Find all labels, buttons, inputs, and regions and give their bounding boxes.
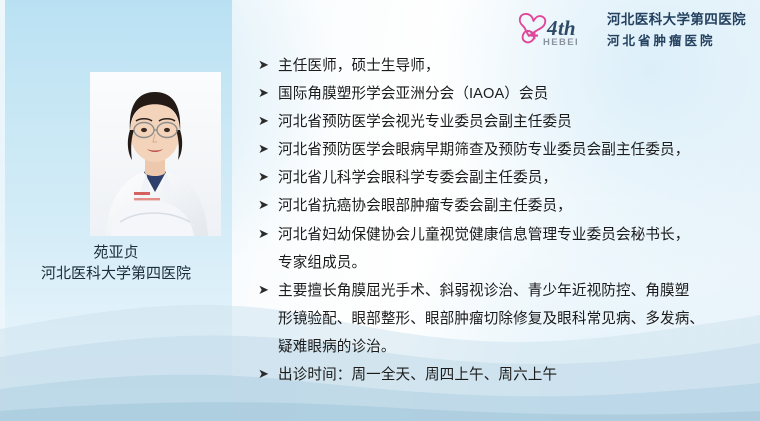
hospital-name-block: 河北医科大学第四医院 河北省肿瘤医院 — [607, 8, 746, 49]
list-item-text: 河北省抗癌协会眼部肿瘤专委会副主任委员， — [278, 194, 748, 219]
list-item-text: 主要擅长角膜屈光手术、斜弱视诊治、青少年近视防控、角膜塑 — [278, 279, 748, 304]
list-item-text: 形镜验配、眼部整形、眼部肿瘤切除修复及眼科常见病、多发病、 — [278, 307, 748, 332]
list-item-text: 出诊时间：周一全天、周四上午、周六上午 — [278, 363, 748, 388]
arrow-bullet-icon: ➤ — [258, 279, 278, 304]
list-item: ➤ 河北省儿科学会眼科学专委会副主任委员， — [258, 166, 748, 191]
list-item: ➤ 出诊时间：周一全天、周四上午、周六上午 — [258, 363, 748, 388]
arrow-bullet-icon: ➤ — [258, 166, 278, 191]
arrow-bullet-icon: ➤ — [258, 194, 278, 219]
arrow-bullet-icon: ➤ — [258, 82, 278, 107]
list-item-text: 国际角膜塑形学会亚洲分会（IAOA）会员 — [278, 82, 748, 107]
hospital-name-primary: 河北医科大学第四医院 — [607, 8, 746, 28]
hospital-brand: 4 th HEBEI 河北医科大学第四医院 河北省肿瘤医院 — [513, 8, 746, 49]
arrow-bullet-icon: ➤ — [258, 223, 278, 248]
list-item-text: 河北省预防医学会视光专业委员会副主任委员 — [278, 110, 748, 135]
list-item-continuation: 专家组成员。 — [258, 251, 748, 276]
list-item: ➤ 主要擅长角膜屈光手术、斜弱视诊治、青少年近视防控、角膜塑 — [258, 279, 748, 304]
list-item-text: 疑难眼病的诊治。 — [278, 335, 748, 360]
hospital-logo-icon: 4 th HEBEI — [513, 10, 599, 48]
list-item-text: 河北省预防医学会眼病早期筛查及预防专业委员会副主任委员， — [278, 138, 748, 163]
list-item: ➤ 主任医师，硕士生导师， — [258, 54, 748, 79]
list-item-text: 专家组成员。 — [278, 251, 748, 276]
list-item: ➤ 国际角膜塑形学会亚洲分会（IAOA）会员 — [258, 82, 748, 107]
arrow-bullet-icon: ➤ — [258, 110, 278, 135]
arrow-bullet-icon: ➤ — [258, 54, 278, 79]
list-item: ➤ 河北省预防医学会视光专业委员会副主任委员 — [258, 110, 748, 135]
list-item: ➤ 河北省抗癌协会眼部肿瘤专委会副主任委员， — [258, 194, 748, 219]
slide-canvas: 4 th HEBEI 河北医科大学第四医院 河北省肿瘤医院 — [0, 0, 760, 421]
list-item-text: 主任医师，硕士生导师， — [278, 54, 748, 79]
doctor-photo — [90, 72, 221, 236]
doctor-caption: 苑亚贞 河北医科大学第四医院 — [0, 242, 232, 284]
hospital-name-secondary: 河北省肿瘤医院 — [607, 30, 746, 49]
list-item-continuation: 疑难眼病的诊治。 — [258, 335, 748, 360]
list-item-text: 河北省儿科学会眼科学专委会副主任委员， — [278, 166, 748, 191]
list-item: ➤ 河北省预防医学会眼病早期筛查及预防专业委员会副主任委员， — [258, 138, 748, 163]
list-item-continuation: 形镜验配、眼部整形、眼部肿瘤切除修复及眼科常见病、多发病、 — [258, 307, 748, 332]
doctor-organization: 河北医科大学第四医院 — [0, 263, 232, 284]
credentials-list: ➤ 主任医师，硕士生导师， ➤ 国际角膜塑形学会亚洲分会（IAOA）会员 ➤ 河… — [258, 54, 748, 391]
list-item-text: 河北省妇幼保健协会儿童视觉健康信息管理专业委员会秘书长， — [278, 223, 748, 248]
arrow-bullet-icon: ➤ — [258, 363, 278, 388]
svg-text:HEBEI: HEBEI — [543, 37, 579, 48]
list-item: ➤ 河北省妇幼保健协会儿童视觉健康信息管理专业委员会秘书长， — [258, 223, 748, 248]
arrow-bullet-icon: ➤ — [258, 138, 278, 163]
doctor-name: 苑亚贞 — [0, 242, 232, 263]
